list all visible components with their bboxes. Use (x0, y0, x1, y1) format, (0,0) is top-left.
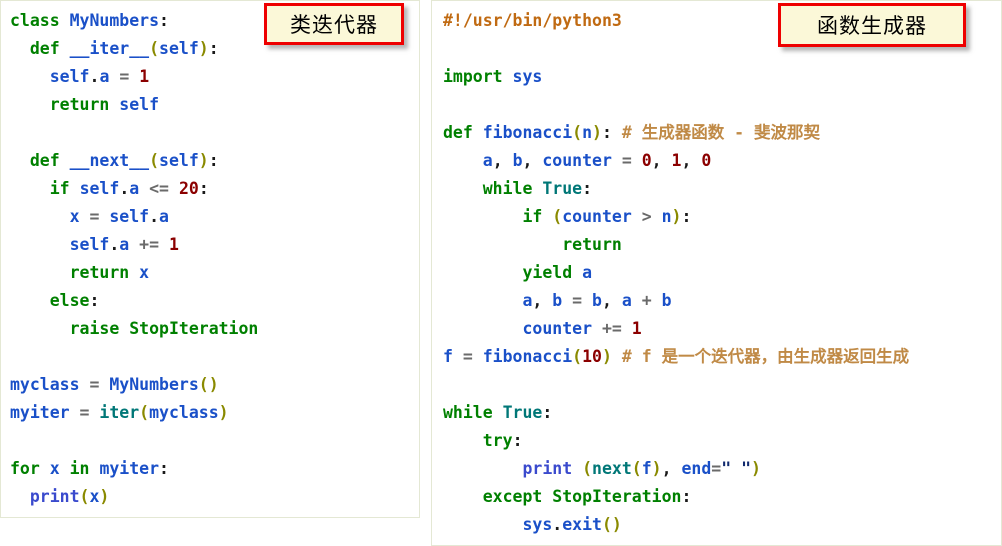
code-token (10, 67, 50, 86)
code-token: ) (199, 39, 209, 58)
code-line: class MyNumbers: (10, 7, 258, 35)
code-token: next (592, 459, 632, 478)
code-token: : (159, 11, 169, 30)
code-line: raise StopIteration (10, 315, 258, 343)
code-token: self (119, 95, 159, 114)
code-token: return (50, 95, 120, 114)
code-token: n (582, 123, 592, 142)
code-token: x (50, 459, 70, 478)
code-token (443, 487, 483, 506)
code-token: ) (219, 403, 229, 422)
code-token: . (109, 235, 119, 254)
code-token: : (90, 291, 100, 310)
code-token: ( (552, 207, 562, 226)
code-token: b (662, 291, 672, 310)
code-token: 1 (632, 319, 642, 338)
code-token: end (681, 459, 711, 478)
code-token: ( (139, 403, 149, 422)
code-token: <= (149, 179, 179, 198)
code-line: myclass = MyNumbers() (10, 371, 258, 399)
code-token: myclass (149, 403, 219, 422)
code-token: myclass (10, 375, 89, 394)
code-token: MyNumbers (109, 375, 198, 394)
code-token: . (90, 67, 100, 86)
code-token: #!/usr/bin/python3 (443, 11, 622, 30)
code-token (443, 235, 562, 254)
code-token: return (70, 263, 140, 282)
code-token: 1 (169, 235, 179, 254)
code-token: __next__ (70, 151, 149, 170)
code-token: ) (672, 207, 682, 226)
code-token: = (711, 459, 721, 478)
code-token: b (552, 291, 572, 310)
code-token: fibonacci (483, 123, 572, 142)
code-token: += (602, 319, 632, 338)
code-line: if self.a <= 20: (10, 175, 258, 203)
code-token: x (89, 487, 99, 506)
code-token: : (513, 431, 523, 450)
code-token: : (209, 151, 219, 170)
code-token: fibonacci (483, 347, 572, 366)
code-token: StopIteration (129, 319, 258, 338)
code-line: print (next(f), end=" ") (443, 455, 909, 483)
code-token: except (483, 487, 553, 506)
code-token: counter (542, 151, 621, 170)
code-token: : (542, 403, 552, 422)
code-line (10, 343, 258, 371)
code-token: > (642, 207, 662, 226)
code-token (10, 263, 70, 282)
code-token: b (513, 151, 523, 170)
code-line: sys.exit() (443, 511, 909, 539)
code-token: , (493, 151, 513, 170)
code-token: . (119, 179, 129, 198)
code-token: MyNumbers (70, 11, 159, 30)
code-token: iter (99, 403, 139, 422)
code-line (10, 427, 258, 455)
code-token: a (99, 67, 119, 86)
code-token: StopIteration (552, 487, 681, 506)
code-line: try: (443, 427, 909, 455)
code-token: : (209, 39, 219, 58)
code-token (443, 515, 522, 534)
code-token (10, 179, 50, 198)
code-token (443, 179, 483, 198)
code-token: __iter__ (70, 39, 149, 58)
code-token (443, 319, 522, 338)
code-token: : (681, 207, 691, 226)
code-token: self (159, 151, 199, 170)
code-token: += (139, 235, 169, 254)
code-token: myiter (10, 403, 80, 422)
code-line: f = fibonacci(10) # f 是一个迭代器，由生成器返回生成 (443, 343, 909, 371)
code-token: , (532, 291, 552, 310)
code-token (443, 291, 522, 310)
code-token: = (622, 151, 642, 170)
code-token: while (483, 179, 543, 198)
code-line: a, b = b, a + b (443, 287, 909, 315)
code-token: f (443, 347, 463, 366)
code-token: a (622, 291, 642, 310)
code-token: 0 (642, 151, 652, 170)
code-line: def __iter__(self): (10, 35, 258, 63)
code-token: , (652, 151, 672, 170)
code-line: print(x) (10, 483, 258, 511)
code-token: sys (522, 515, 552, 534)
code-token (10, 95, 50, 114)
code-token: a (119, 235, 139, 254)
code-token: for (10, 459, 50, 478)
code-token: myiter (99, 459, 159, 478)
code-token: import (443, 67, 513, 86)
code-token (10, 291, 50, 310)
code-token: ( (572, 347, 582, 366)
code-token: self (80, 179, 120, 198)
code-token: raise (70, 319, 130, 338)
class-iterator-code-panel: class MyNumbers: def __iter__(self): sel… (0, 0, 420, 518)
code-token: ( (80, 487, 90, 506)
code-token: # f 是一个迭代器，由生成器返回生成 (622, 347, 909, 366)
code-token: n (662, 207, 672, 226)
code-token: x (70, 207, 90, 226)
code-token: sys (513, 67, 543, 86)
code-token: ( (572, 123, 582, 142)
code-token: = (89, 375, 109, 394)
code-token: a (483, 151, 493, 170)
code-token: in (70, 459, 100, 478)
code-token: = (463, 347, 483, 366)
code-line: while True: (443, 175, 909, 203)
code-token: 0 (701, 151, 711, 170)
callout-badge-class-iterator: 类迭代器 (264, 3, 404, 45)
code-token: try (483, 431, 513, 450)
code-token (443, 431, 483, 450)
code-token: self (159, 39, 199, 58)
code-token: counter (562, 207, 641, 226)
code-token: ) (652, 459, 662, 478)
code-token: a (129, 179, 149, 198)
code-token (10, 319, 70, 338)
code-token: x (139, 263, 149, 282)
code-line: return (443, 231, 909, 259)
code-block-left: class MyNumbers: def __iter__(self): sel… (1, 1, 258, 511)
code-token: yield (522, 263, 582, 282)
code-token: a (582, 263, 592, 282)
code-line: counter += 1 (443, 315, 909, 343)
code-block-right: #!/usr/bin/python3 import sys def fibona… (432, 1, 909, 539)
code-token: = (119, 67, 139, 86)
code-token: 20 (179, 179, 199, 198)
code-token (443, 459, 522, 478)
code-line (443, 371, 909, 399)
code-token: a (159, 207, 169, 226)
code-token: () (602, 515, 622, 534)
code-token (10, 151, 30, 170)
code-token: self (109, 207, 149, 226)
code-token: ( (632, 459, 642, 478)
code-token: : (159, 459, 169, 478)
code-token: , (681, 151, 701, 170)
code-line: for x in myiter: (10, 455, 258, 483)
code-line: import sys (443, 63, 909, 91)
code-token: = (572, 291, 592, 310)
code-token: return (562, 235, 622, 254)
code-token: 1 (139, 67, 149, 86)
code-token: () (199, 375, 219, 394)
code-line: while True: (443, 399, 909, 427)
code-token: if (50, 179, 80, 198)
code-token: : (681, 487, 691, 506)
code-line: def __next__(self): (10, 147, 258, 175)
code-token: ( (582, 459, 592, 478)
code-token: counter (522, 319, 601, 338)
code-token: class (10, 11, 70, 30)
code-token: : (199, 179, 209, 198)
code-token: = (80, 403, 100, 422)
code-line: myiter = iter(myclass) (10, 399, 258, 427)
code-token (443, 263, 522, 282)
code-token: def (443, 123, 483, 142)
code-line: if (counter > n): (443, 203, 909, 231)
code-token: 1 (672, 151, 682, 170)
code-token: b (592, 291, 602, 310)
code-token: , (602, 291, 622, 310)
code-token (443, 207, 522, 226)
code-line: a, b, counter = 0, 1, 0 (443, 147, 909, 175)
code-token (10, 487, 30, 506)
code-token: True (542, 179, 582, 198)
code-token: 10 (582, 347, 602, 366)
code-line: else: (10, 287, 258, 315)
code-token: ) (592, 123, 602, 142)
code-token: " " (721, 459, 751, 478)
code-token: if (522, 207, 552, 226)
code-line: self.a = 1 (10, 63, 258, 91)
code-token: = (89, 207, 109, 226)
code-token: while (443, 403, 503, 422)
code-token: f (642, 459, 652, 478)
code-line: x = self.a (10, 203, 258, 231)
code-token: self (50, 67, 90, 86)
code-token (443, 151, 483, 170)
callout-badge-function-generator: 函数生成器 (778, 3, 966, 47)
code-line: return x (10, 259, 258, 287)
code-token: : (602, 123, 622, 142)
code-line: def fibonacci(n): # 生成器函数 - 斐波那契 (443, 119, 909, 147)
code-line (10, 119, 258, 147)
code-line: self.a += 1 (10, 231, 258, 259)
code-token: : (582, 179, 592, 198)
code-token: ( (149, 151, 159, 170)
code-token: . (552, 515, 562, 534)
code-token: True (503, 403, 543, 422)
code-token: def (30, 39, 70, 58)
code-token: + (642, 291, 662, 310)
code-token: print (30, 487, 80, 506)
code-token: ) (751, 459, 761, 478)
code-token (10, 235, 70, 254)
code-token: exit (562, 515, 602, 534)
code-token: def (30, 151, 70, 170)
code-token: print (522, 459, 582, 478)
code-line (443, 91, 909, 119)
code-line: return self (10, 91, 258, 119)
code-line: yield a (443, 259, 909, 287)
code-token: , (523, 151, 543, 170)
code-token: a (522, 291, 532, 310)
code-token: , (662, 459, 682, 478)
code-token: ) (99, 487, 109, 506)
code-token: ( (149, 39, 159, 58)
code-line: except StopIteration: (443, 483, 909, 511)
code-token (10, 39, 30, 58)
code-token: ) (602, 347, 622, 366)
code-token: else (50, 291, 90, 310)
code-token: # 生成器函数 - 斐波那契 (622, 123, 820, 142)
function-generator-code-panel: #!/usr/bin/python3 import sys def fibona… (431, 0, 1002, 546)
code-token: self (70, 235, 110, 254)
code-token: . (149, 207, 159, 226)
code-token: ) (199, 151, 209, 170)
code-token (10, 207, 70, 226)
